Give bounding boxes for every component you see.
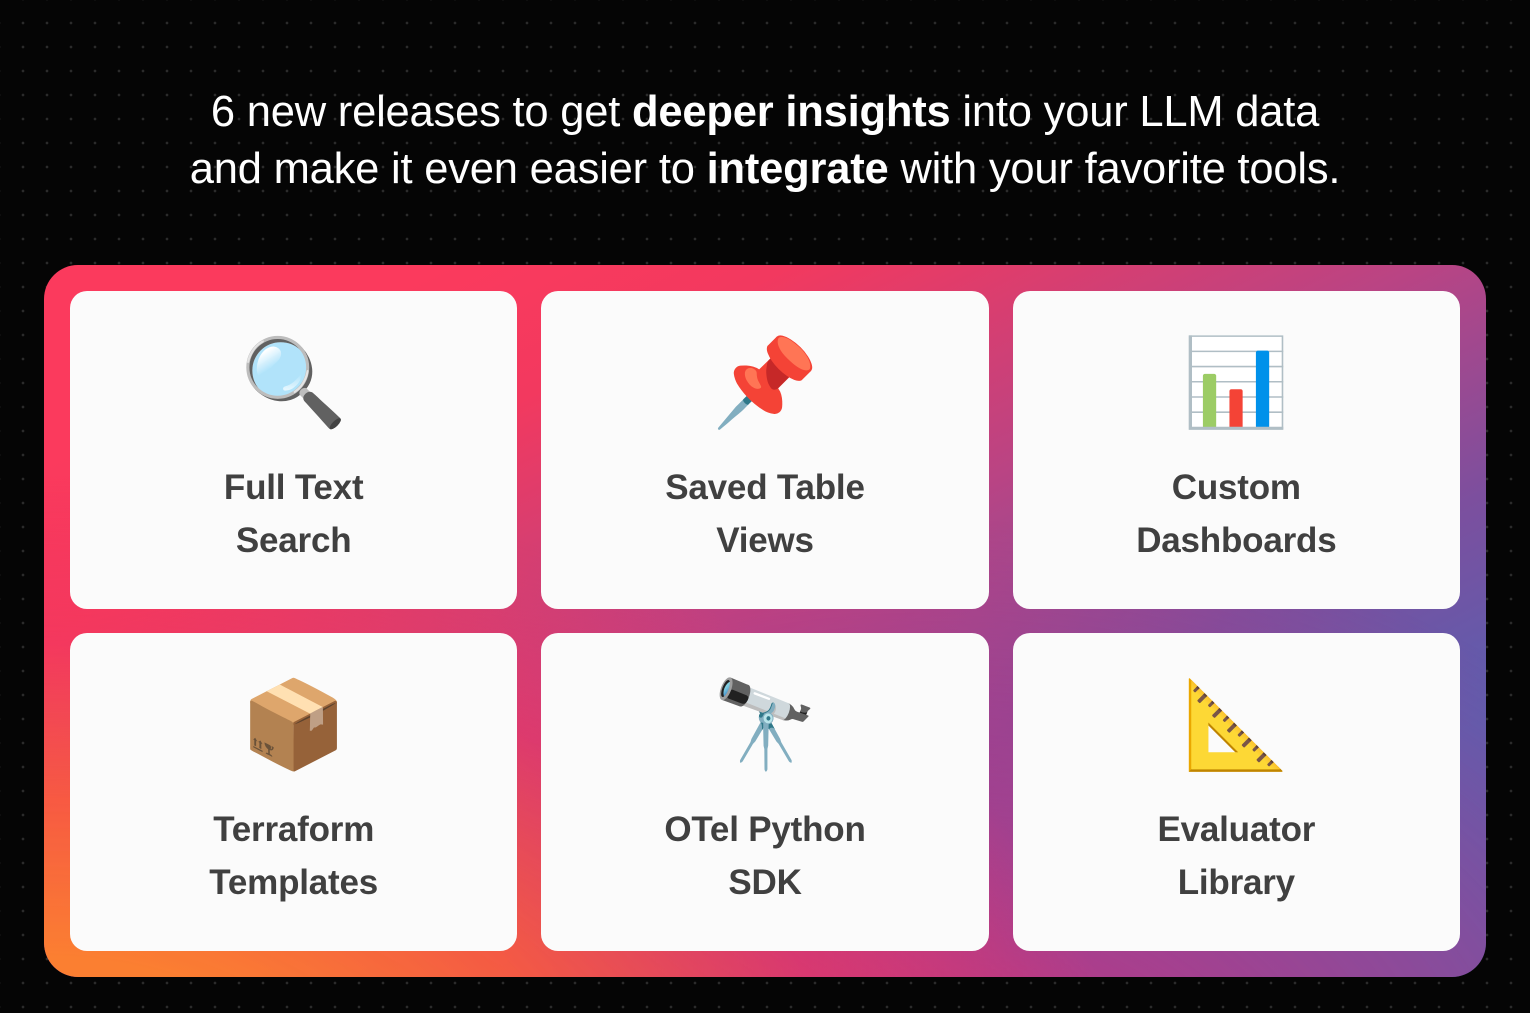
feature-card-label: Full Text Search (224, 461, 364, 567)
headline-line-2-pre: and make it even easier to (190, 145, 707, 193)
feature-card-evaluator-library[interactable]: 📐 Evaluator Library (1013, 633, 1460, 951)
feature-card-otel-python-sdk[interactable]: 🔭 OTel Python SDK (541, 633, 988, 951)
triangular-ruler-icon: 📐 (1183, 669, 1290, 781)
feature-card-label: Evaluator Library (1157, 803, 1315, 909)
feature-card-label: Custom Dashboards (1136, 461, 1336, 567)
bar-chart-icon: 📊 (1183, 327, 1290, 439)
pushpin-icon: 📌 (711, 327, 818, 439)
headline-line-1-post: into your LLM data (951, 88, 1320, 136)
feature-card-saved-table-views[interactable]: 📌 Saved Table Views (541, 291, 988, 609)
feature-card-label: Saved Table Views (665, 461, 864, 567)
promo-graphic: 6 new releases to get deeper insights in… (0, 0, 1530, 1013)
feature-card-grid: 🔍 Full Text Search 📌 Saved Table Views 📊… (70, 291, 1460, 951)
telescope-icon: 🔭 (711, 669, 818, 781)
feature-card-custom-dashboards[interactable]: 📊 Custom Dashboards (1013, 291, 1460, 609)
headline: 6 new releases to get deeper insights in… (0, 84, 1530, 198)
feature-card-full-text-search[interactable]: 🔍 Full Text Search (70, 291, 517, 609)
headline-line-1-pre: 6 new releases to get (211, 88, 632, 136)
headline-emphasis-deeper-insights: deeper insights (632, 88, 951, 136)
headline-line-1: 6 new releases to get deeper insights in… (50, 84, 1480, 141)
gradient-frame: 🔍 Full Text Search 📌 Saved Table Views 📊… (44, 265, 1486, 977)
feature-card-terraform-templates[interactable]: 📦 Terraform Templates (70, 633, 517, 951)
headline-line-2-post: with your favorite tools. (889, 145, 1341, 193)
headline-emphasis-integrate: integrate (707, 145, 889, 193)
package-box-icon: 📦 (240, 669, 347, 781)
feature-card-label: Terraform Templates (209, 803, 378, 909)
magnifying-glass-icon: 🔍 (240, 327, 347, 439)
feature-card-label: OTel Python SDK (664, 803, 865, 909)
headline-line-2: and make it even easier to integrate wit… (50, 141, 1480, 198)
